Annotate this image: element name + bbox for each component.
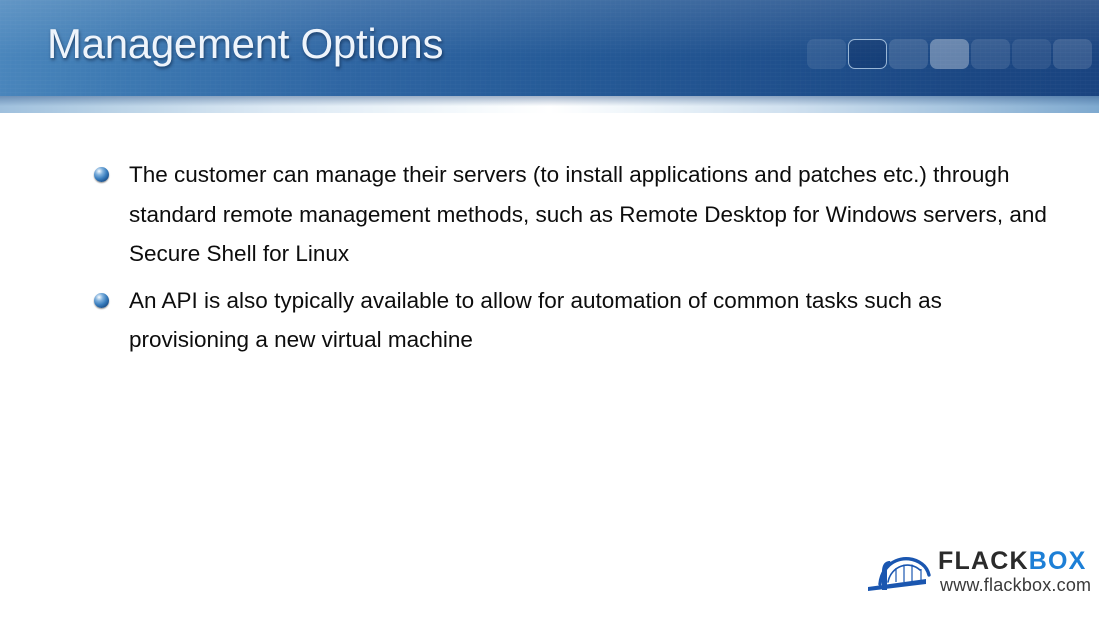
logo-wordmark: FLACKBOX xyxy=(938,548,1087,574)
slide-content: The customer can manage their servers (t… xyxy=(0,113,1099,618)
decor-square-3 xyxy=(889,39,928,69)
slide: Management Options The customer can mana… xyxy=(0,0,1099,618)
flackbox-bridge-icon xyxy=(866,548,938,592)
header-underline-shadow xyxy=(0,96,1099,113)
logo-word-accent: BOX xyxy=(1029,547,1087,575)
blue-sphere-bullet-icon xyxy=(94,167,109,182)
header-decorative-squares xyxy=(807,39,1092,69)
bullet-text: The customer can manage their servers (t… xyxy=(129,155,1055,274)
list-item: The customer can manage their servers (t… xyxy=(90,155,1055,274)
page-title: Management Options xyxy=(47,20,443,68)
logo-word-primary: FLACK xyxy=(938,547,1029,575)
decor-square-6 xyxy=(1012,39,1051,69)
decor-square-5 xyxy=(971,39,1010,69)
blue-sphere-bullet-icon xyxy=(94,293,109,308)
list-item: An API is also typically available to al… xyxy=(90,281,1055,360)
bullet-list: The customer can manage their servers (t… xyxy=(90,155,1055,367)
decor-square-1 xyxy=(807,39,846,69)
slide-header: Management Options xyxy=(0,0,1099,113)
decor-square-2-outlined xyxy=(848,39,887,69)
decor-square-4-highlight xyxy=(930,39,969,69)
decor-square-7 xyxy=(1053,39,1092,69)
logo-url: www.flackbox.com xyxy=(940,575,1091,596)
bullet-text: An API is also typically available to al… xyxy=(129,281,1055,360)
flackbox-logo: FLACKBOX www.flackbox.com xyxy=(866,546,1086,602)
